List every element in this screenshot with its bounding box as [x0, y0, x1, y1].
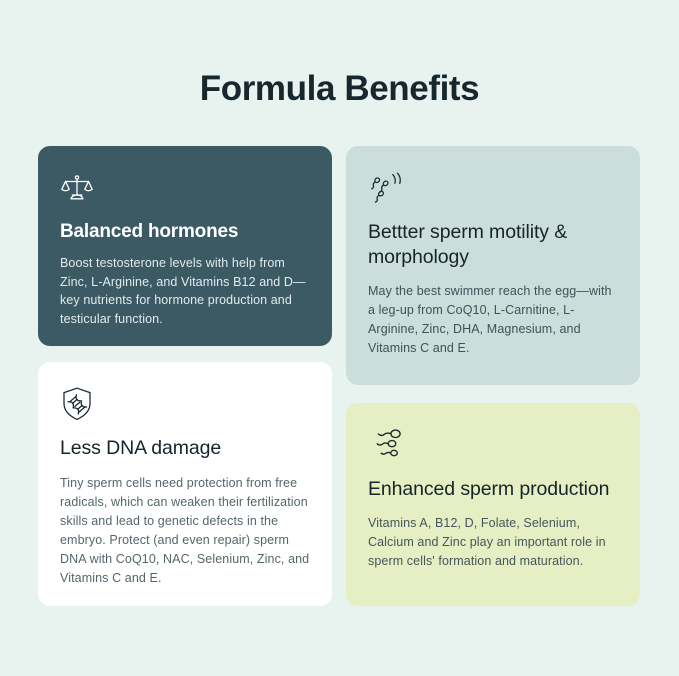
page-title: Formula Benefits — [0, 66, 679, 112]
card-body: May the best swimmer reach the egg—with … — [368, 282, 618, 358]
formula-benefits-page: Formula Benefits Balanced hormones Boost… — [0, 0, 679, 676]
card-title: Enhanced sperm production — [368, 477, 618, 502]
benefit-card-enhanced-sperm-production: Enhanced sperm production Vitamins A, B1… — [346, 403, 640, 606]
three-sperm-icon — [368, 427, 618, 461]
card-title: Balanced hormones — [60, 220, 310, 244]
benefit-card-balanced-hormones: Balanced hormones Boost testosterone lev… — [38, 146, 332, 346]
benefit-card-less-dna-damage: Less DNA damage Tiny sperm cells need pr… — [38, 362, 332, 606]
card-body: Vitamins A, B12, D, Folate, Selenium, Ca… — [368, 514, 618, 571]
card-title: Bettter sperm motility & morphology — [368, 220, 618, 270]
card-body: Boost testosterone levels with help from… — [60, 254, 310, 328]
sperm-cells-egg-icon — [368, 170, 618, 204]
card-body: Tiny sperm cells need protection from fr… — [60, 474, 310, 588]
balance-scale-icon — [60, 170, 310, 204]
benefit-card-sperm-motility: Bettter sperm motility & morphology May … — [346, 146, 640, 385]
card-title: Less DNA damage — [60, 436, 310, 461]
shield-dna-icon — [60, 386, 310, 420]
